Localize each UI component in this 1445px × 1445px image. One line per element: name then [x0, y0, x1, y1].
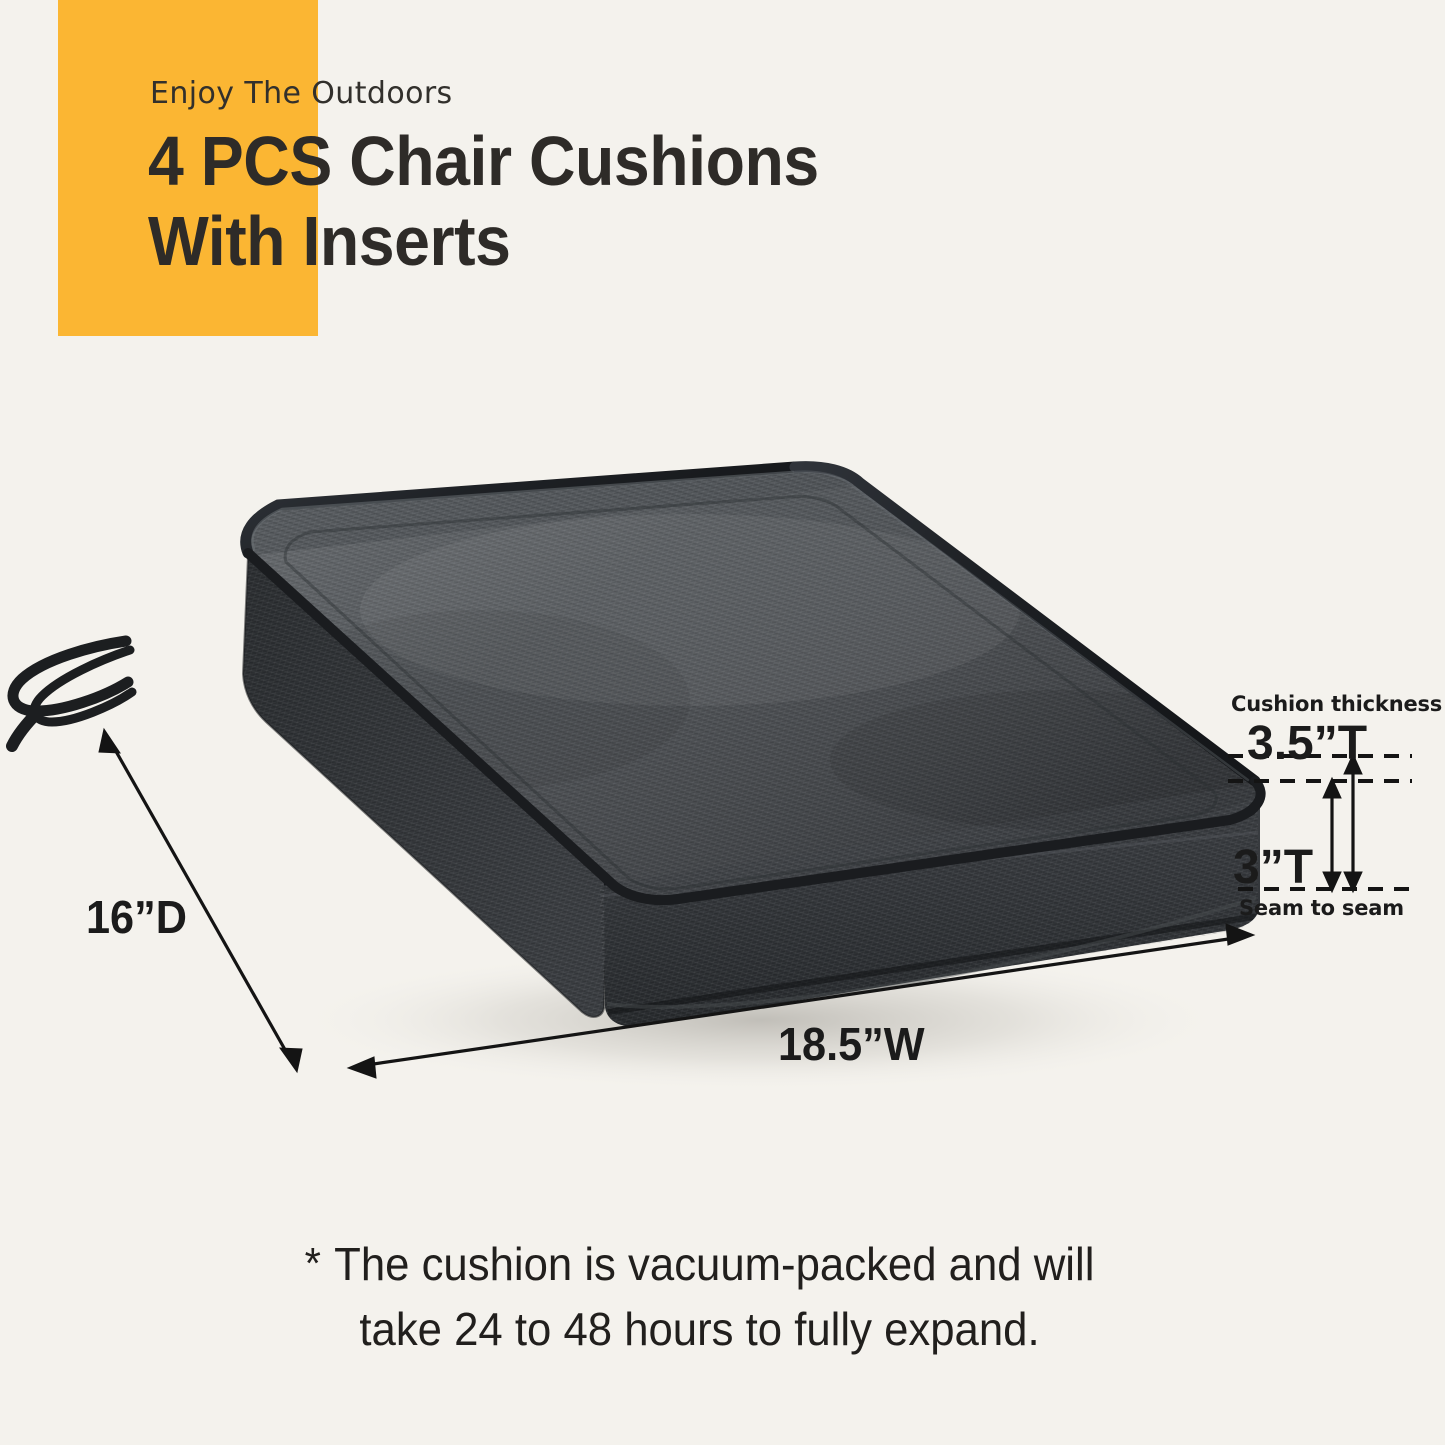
seam-to-seam-arrow — [1323, 778, 1341, 892]
cushion-thickness-arrow — [1344, 754, 1362, 892]
cushion-thickness-caption: Cushion thickness — [1231, 692, 1442, 716]
bottom-seam — [607, 898, 1256, 1007]
headline-line-1: 4 PCS Chair Cushions — [148, 126, 819, 196]
width-dimension-label: 18.5”W — [778, 1017, 925, 1071]
footnote-line-2: take 24 to 48 hours to fully expand. — [359, 1303, 1039, 1355]
depth-dimension-label: 16”D — [86, 890, 187, 944]
eyebrow-text: Enjoy The Outdoors — [150, 76, 453, 111]
cushion-left-panel — [200, 520, 680, 1060]
asterisk-icon: * — [305, 1239, 335, 1288]
cushion-piping — [246, 467, 1261, 900]
headline-line-2: With Inserts — [148, 206, 510, 276]
footnote: *The cushion is vacuum-packed and will t… — [293, 1232, 1105, 1363]
cushion-thickness-value: 3.5”T — [1247, 716, 1367, 771]
footnote-line-1: The cushion is vacuum-packed and will — [334, 1238, 1094, 1290]
cushion-front-panel — [580, 790, 1280, 1050]
dimension-lines — [99, 729, 1412, 1078]
seam-to-seam-caption: Seam to seam — [1239, 896, 1404, 920]
tie-strap — [12, 641, 132, 746]
seam-to-seam-value: 3”T — [1233, 840, 1313, 895]
product-infographic: Enjoy The Outdoors 4 PCS Chair Cushions … — [0, 0, 1445, 1445]
ground-shadow — [290, 948, 1230, 1092]
top-inset-seam — [285, 497, 1216, 889]
cushion-top-face — [200, 440, 1320, 940]
